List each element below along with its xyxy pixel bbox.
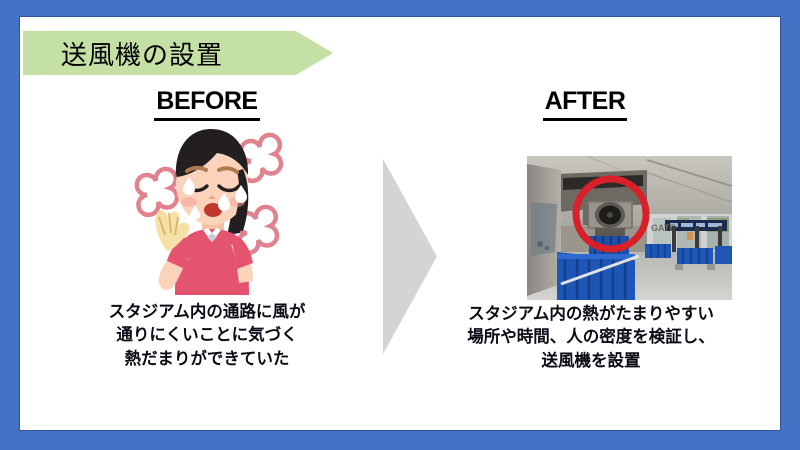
- after-heading: AFTER: [420, 87, 750, 121]
- before-heading-label: BEFORE: [154, 87, 259, 121]
- title-banner: 送風機の設置: [23, 31, 333, 75]
- after-column: AFTER: [420, 87, 750, 121]
- before-caption-line-1: スタジアム内の通路に風が: [42, 300, 372, 323]
- stadium-concourse-photo-graphic: GATE: [527, 156, 732, 300]
- before-illustration-wrap: [42, 117, 372, 295]
- before-caption: スタジアム内の通路に風が 通りにくいことに気づく 熱だまりができていた: [42, 300, 372, 370]
- page-title: 送風機の設置: [61, 35, 223, 72]
- after-photo: GATE: [527, 156, 732, 300]
- sweating-woman-fanning-illustration: [119, 117, 295, 295]
- after-caption-line-2: 場所や時間、人の密度を検証し、: [416, 325, 766, 348]
- after-caption: スタジアム内の熱がたまりやすい 場所や時間、人の密度を検証し、 送風機を設置: [416, 302, 766, 372]
- svg-text:GATE: GATE: [651, 223, 675, 233]
- before-caption-line-2: 通りにくいことに気づく: [42, 323, 372, 346]
- after-heading-label: AFTER: [543, 87, 628, 121]
- before-heading: BEFORE: [42, 87, 372, 121]
- after-caption-line-1: スタジアム内の熱がたまりやすい: [416, 302, 766, 325]
- before-column: BEFORE: [42, 87, 372, 121]
- before-caption-line-3: 熱だまりができていた: [42, 347, 372, 370]
- after-caption-line-3: 送風機を設置: [416, 349, 766, 372]
- slide-canvas: 送風機の設置 BEFORE: [0, 0, 800, 450]
- slide-page: 送風機の設置 BEFORE: [19, 16, 781, 431]
